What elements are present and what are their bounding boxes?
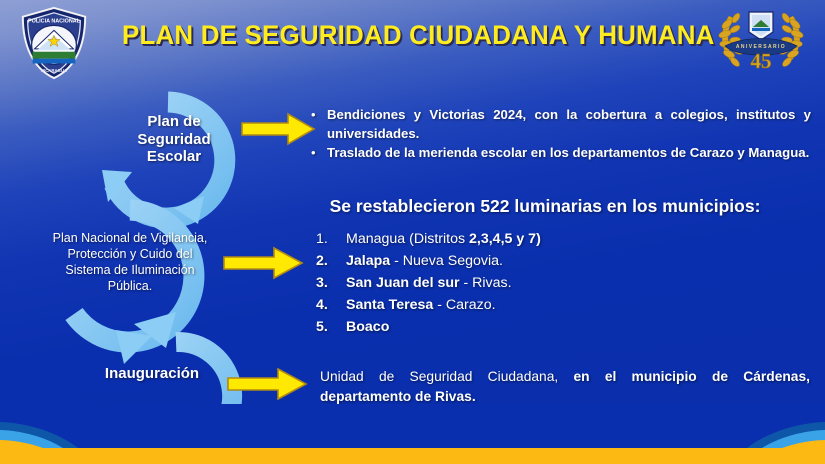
bullet-glyph: •: [311, 106, 327, 143]
anniversary-number: 45: [751, 49, 772, 73]
section-heading-luminarias: Se restablecieron 522 luminarias en los …: [280, 196, 810, 217]
list-item: 2. Jalapa - Nueva Segovia.: [316, 250, 736, 272]
slide-canvas: POLICIA NACIONAL NICARAGUA PLAN DE SEGUR…: [0, 0, 825, 464]
inauguration-text-regular: Unidad de Seguridad Ciudadana,: [320, 369, 573, 384]
list-item-number: 2.: [316, 250, 346, 272]
municipality-name: Managua (Distritos: [346, 231, 469, 247]
list-item-body: San Juan del sur - Rivas.: [346, 272, 736, 294]
list-item-number: 3.: [316, 272, 346, 294]
municipality-detail: 2,3,4,5 y 7): [469, 231, 541, 247]
node-label-inauguracion: Inauguración: [82, 365, 222, 383]
list-item-text: Traslado de la merienda escolar en los d…: [327, 144, 811, 163]
municipality-detail: - Nueva Segovia.: [390, 253, 503, 269]
municipality-detail: - Carazo.: [433, 297, 495, 313]
municipality-list: 1. Managua (Distritos 2,3,4,5 y 7) 2. Ja…: [316, 228, 736, 338]
inauguration-text: Unidad de Seguridad Ciudadana, en el mun…: [320, 367, 810, 407]
municipality-name: Santa Teresa: [346, 297, 433, 313]
node-label-plan-escolar: Plan de Seguridad Escolar: [118, 113, 230, 166]
right-arrow-icon: [222, 246, 304, 280]
municipality-detail: - Rivas.: [460, 275, 512, 291]
municipality-name: Boaco: [346, 319, 389, 335]
list-item-number: 1.: [316, 228, 346, 250]
municipality-name: Jalapa: [346, 253, 390, 269]
list-item-body: Boaco: [346, 316, 736, 338]
right-arrow-icon: [226, 367, 308, 401]
list-item: • Bendiciones y Victorias 2024, con la c…: [311, 106, 811, 143]
svg-text:NICARAGUA: NICARAGUA: [41, 68, 67, 73]
list-item-text: Bendiciones y Victorias 2024, con la cob…: [327, 106, 811, 143]
list-item-body: Managua (Distritos 2,3,4,5 y 7): [346, 228, 736, 250]
list-item-number: 5.: [316, 316, 346, 338]
right-arrow-icon: [240, 112, 316, 146]
list-item: 1. Managua (Distritos 2,3,4,5 y 7): [316, 228, 736, 250]
list-item: • Traslado de la merienda escolar en los…: [311, 144, 811, 163]
list-item: 3. San Juan del sur - Rivas.: [316, 272, 736, 294]
svg-text:POLICIA NACIONAL: POLICIA NACIONAL: [28, 19, 81, 25]
laurel-wreath-anniversary-icon: ANIVERSARIO 45: [715, 2, 807, 80]
list-item: 4. Santa Teresa - Carazo.: [316, 294, 736, 316]
node-label-plan-iluminacion: Plan Nacional de Vigilancia, Protección …: [44, 230, 216, 294]
list-item-body: Santa Teresa - Carazo.: [346, 294, 736, 316]
bullet-glyph: •: [311, 144, 327, 163]
police-shield-badge-icon: POLICIA NACIONAL NICARAGUA: [18, 6, 90, 80]
page-title: PLAN DE SEGURIDAD CIUDADANA Y HUMANA: [122, 20, 698, 51]
list-item-body: Jalapa - Nueva Segovia.: [346, 250, 736, 272]
bottom-decoration: [0, 404, 825, 464]
slide-header: POLICIA NACIONAL NICARAGUA PLAN DE SEGUR…: [0, 0, 825, 86]
list-item-number: 4.: [316, 294, 346, 316]
list-item: 5. Boaco: [316, 316, 736, 338]
municipality-name: San Juan del sur: [346, 275, 460, 291]
bullet-block-escolar: • Bendiciones y Victorias 2024, con la c…: [311, 106, 811, 164]
